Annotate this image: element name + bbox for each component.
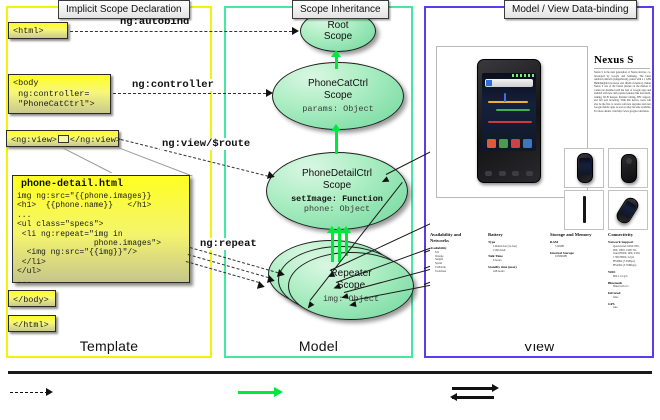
specs-value: 428 hours	[488, 270, 536, 274]
product-description: Nexus S is the next generation of Nexus …	[594, 71, 651, 135]
legend-green-line	[238, 391, 276, 394]
placeholder-rect-icon	[58, 135, 69, 143]
wallpaper-line-4	[504, 93, 506, 102]
arrowhead-autobind	[292, 27, 299, 35]
dashed-line-autobind	[70, 31, 292, 32]
inheritance-arrow-rep-b	[338, 232, 341, 262]
scope-repeater-title-1: Repeater	[330, 268, 371, 280]
arrowhead-controller	[266, 89, 273, 97]
ng-view-close-tag: </ng:view>	[70, 135, 121, 145]
thumb-screen-4	[619, 200, 636, 219]
specs-value: 1500 mAh	[488, 249, 536, 253]
app-icon-market	[511, 139, 520, 148]
specs-value: Bluetooth 2.1	[608, 285, 652, 289]
specs-value: Vodafone	[430, 270, 478, 274]
app-icon-maps	[499, 139, 508, 148]
ng-view-open-tag: <ng:view>	[11, 135, 57, 145]
code-box-body-close: </body>	[8, 290, 56, 307]
phone-button-search	[526, 171, 533, 176]
label-ng-controller: ng:controller	[130, 79, 216, 91]
phone-thumb-front	[577, 153, 593, 183]
specs-value: HSUPA (5.76Mbps)	[608, 264, 652, 268]
scope-phonecatctrl: PhoneCatCtrl Scope params: Object	[272, 62, 404, 130]
label-ng-view-route: ng:view/$route	[160, 138, 252, 150]
phone-button-menu	[499, 171, 506, 176]
legend-solid-line-bottom	[452, 396, 494, 399]
specs-column-storage: Storage and Memory RAM 512MB Internal St…	[550, 232, 600, 259]
legend-dashed-arrowhead	[46, 388, 53, 396]
specs-header-battery: Battery	[488, 232, 536, 238]
scope-phonedetailctrl-member-setimage: setImage: Function	[291, 194, 383, 204]
scope-root-title-1: Root	[327, 20, 348, 32]
specs-value: 802.11 b/g/n	[608, 275, 652, 279]
specs-header-storage: Storage and Memory	[550, 232, 600, 238]
specs-value: 6 hours	[488, 259, 536, 263]
specs-table: Availability and Networks Availability M…	[430, 232, 650, 337]
legend-solid-line-top	[452, 387, 494, 390]
specs-value: 512MB	[550, 245, 600, 249]
product-title: Nexus S	[594, 54, 634, 66]
scope-phonecatctrl-title-1: PhoneCatCtrl	[308, 78, 368, 90]
thumb-screen-1	[579, 158, 591, 175]
code-box-body-tag: <body ng:controller= "PhoneCatCtrl">	[8, 74, 111, 114]
google-g-icon	[486, 80, 492, 86]
scope-root-title-2: Scope	[324, 31, 352, 43]
inheritance-arrowhead-rep-c	[341, 226, 351, 233]
code-box-ng-view: <ng:view></ng:view>	[6, 130, 119, 147]
dashed-line-controller	[113, 93, 266, 94]
scope-repeater: Repeater Scope img: Object	[288, 252, 414, 320]
legend-green-arrowhead	[274, 387, 283, 397]
label-ng-repeat: ng:repeat	[198, 238, 259, 250]
code-box-phone-detail: phone-detail.html img ng:src="{{phone.im…	[12, 175, 190, 283]
specs-column-battery: Battery Type Lithium Ion (Li-Ion) 1500 m…	[488, 232, 536, 273]
code-box-html-tag: <html>	[8, 22, 68, 39]
inheritance-arrow-root	[335, 57, 338, 69]
legend-label-scope-inheritance: Scope Inheritance	[292, 0, 389, 19]
search-widget-icon	[485, 79, 533, 87]
wallpaper-line-1	[488, 101, 528, 103]
scope-phonedetailctrl-title-1: PhoneDetailCtrl	[302, 168, 372, 180]
inheritance-arrow-rep-a	[331, 232, 334, 262]
specs-value: 16384MB	[550, 255, 600, 259]
wallpaper-line-3	[488, 121, 532, 123]
code-box-html-close: </html>	[8, 315, 56, 332]
specs-value: true	[608, 306, 652, 310]
inheritance-arrow-phonecat	[335, 130, 338, 154]
camera-lens-icon	[626, 158, 632, 164]
scope-phonecatctrl-members: params: Object	[302, 104, 373, 114]
legend-label-data-binding: Model / View Data-binding	[504, 0, 637, 19]
legend-divider	[8, 371, 652, 374]
phone-app-dock	[485, 135, 533, 148]
inheritance-arrowhead-root	[331, 50, 341, 57]
phone-detail-code: img ng:src="{{phone.images}} <h1> {{phon…	[17, 192, 185, 286]
legend-dashed-line	[10, 392, 48, 393]
specs-column-connectivity: Connectivity Network Support Quad-band G…	[608, 232, 652, 310]
phone-thumb-side	[583, 196, 586, 223]
scope-phonedetailctrl-member-phone: phone: Object	[304, 204, 370, 214]
phone-hardware-buttons	[482, 169, 536, 178]
specs-header-connectivity: Connectivity	[608, 232, 652, 238]
phone-thumbnail-1[interactable]	[564, 148, 604, 188]
scope-phonecatctrl-title-2: Scope	[324, 90, 352, 102]
phone-thumbnail-3[interactable]	[564, 190, 604, 230]
phone-image-large	[477, 59, 541, 183]
panel-model-label: Model	[226, 338, 411, 354]
legend-solid-arrowhead-left	[450, 393, 457, 401]
wallpaper-line-2	[496, 109, 530, 111]
panel-template-label: Template	[8, 338, 210, 354]
title-divider	[594, 68, 650, 69]
phone-button-home	[512, 171, 519, 176]
legend-solid-arrowhead-right	[492, 384, 499, 392]
phone-button-back	[485, 171, 492, 176]
phone-thumb-back	[621, 154, 637, 183]
diagram-canvas: Template Model View <html> <body ng:cont…	[0, 0, 660, 420]
phone-detail-filename: phone-detail.html	[21, 179, 185, 190]
phone-thumbnail-2[interactable]	[608, 148, 648, 188]
specs-column-availability: Availability and Networks Availability M…	[430, 232, 478, 274]
app-icon-messaging	[487, 139, 496, 148]
scope-phonedetailctrl: PhoneDetailCtrl Scope setImage: Function…	[266, 152, 408, 230]
specs-value: false	[608, 296, 652, 300]
status-bar-icons	[512, 74, 534, 77]
phone-thumbnail-4[interactable]	[608, 190, 648, 230]
legend-label-implicit-scope: Implicit Scope Declaration	[58, 0, 190, 19]
phone-thumb-angled	[614, 195, 641, 226]
phone-screen	[482, 73, 536, 151]
scope-phonedetailctrl-title-2: Scope	[323, 180, 351, 192]
specs-header-availability: Availability and Networks	[430, 232, 478, 244]
inheritance-arrowhead-phonecat	[331, 124, 341, 131]
app-icon-browser	[523, 139, 532, 148]
